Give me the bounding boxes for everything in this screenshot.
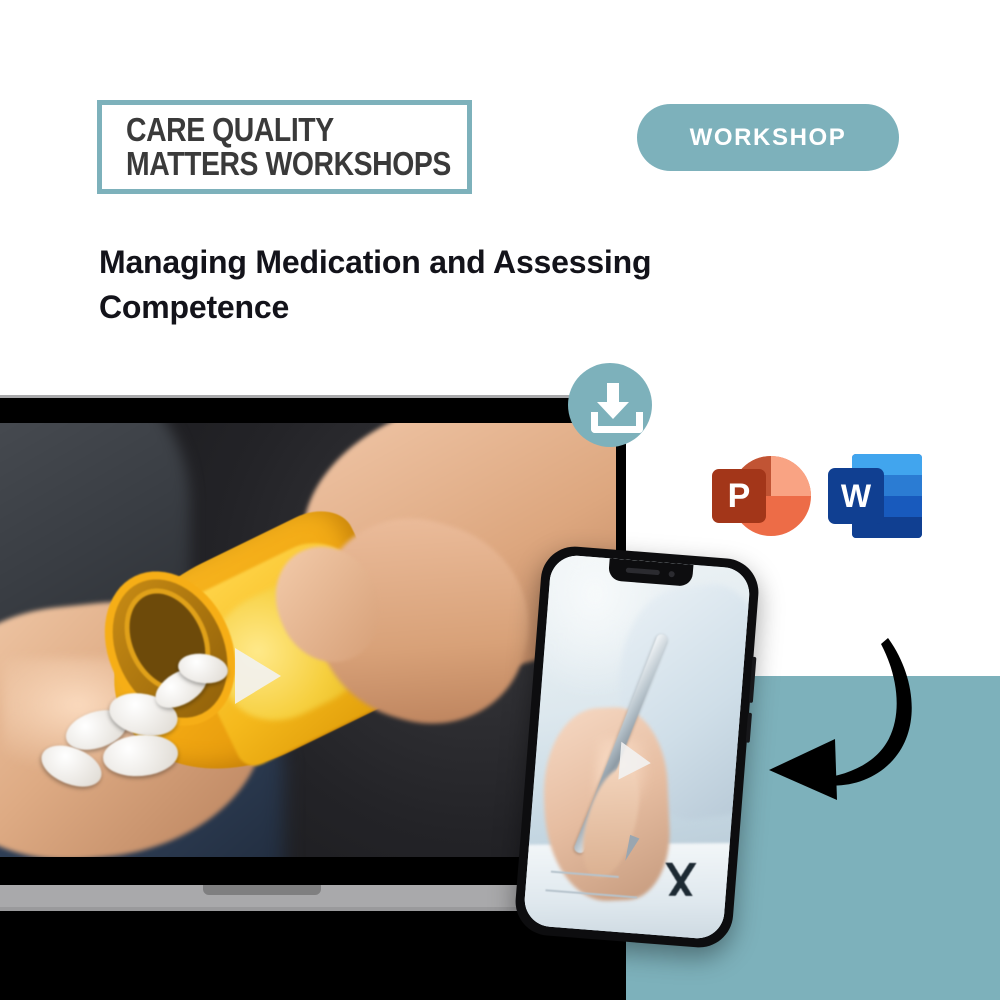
brand-logo: CARE QUALITY MATTERS WORKSHOPS bbox=[97, 100, 472, 194]
page-title: Managing Medication and Assessing Compet… bbox=[99, 240, 799, 330]
phone-earpiece-speaker bbox=[626, 568, 660, 576]
download-icon-tray bbox=[591, 412, 643, 433]
download-badge[interactable] bbox=[568, 363, 652, 447]
brand-logo-line1: CARE QUALITY bbox=[126, 113, 414, 147]
laptop-base-notch bbox=[203, 885, 321, 895]
word-icon-tile: W bbox=[828, 468, 884, 524]
powerpoint-icon-quadrant-tr bbox=[771, 456, 811, 496]
powerpoint-icon-letter: P bbox=[728, 479, 751, 513]
curved-arrow-icon bbox=[765, 630, 925, 810]
powerpoint-icon[interactable]: P bbox=[712, 452, 806, 540]
phone-device bbox=[513, 544, 761, 950]
workshop-badge: WORKSHOP bbox=[637, 104, 899, 171]
play-button-icon[interactable] bbox=[235, 648, 281, 704]
word-icon-letter: W bbox=[841, 480, 871, 512]
word-icon[interactable]: W bbox=[828, 452, 922, 540]
brand-logo-line2: MATTERS WORKSHOPS bbox=[126, 147, 414, 181]
phone-front-camera bbox=[668, 571, 674, 577]
powerpoint-icon-tile: P bbox=[712, 469, 766, 523]
phone-screen[interactable] bbox=[523, 554, 752, 941]
workshop-badge-label: WORKSHOP bbox=[690, 124, 847, 152]
brand-logo-inner: CARE QUALITY MATTERS WORKSHOPS bbox=[108, 110, 461, 184]
scene-document-mark bbox=[647, 862, 715, 896]
play-button-icon[interactable] bbox=[618, 742, 652, 782]
promotional-graphic: CARE QUALITY MATTERS WORKSHOPS WORKSHOP … bbox=[0, 0, 1000, 1000]
